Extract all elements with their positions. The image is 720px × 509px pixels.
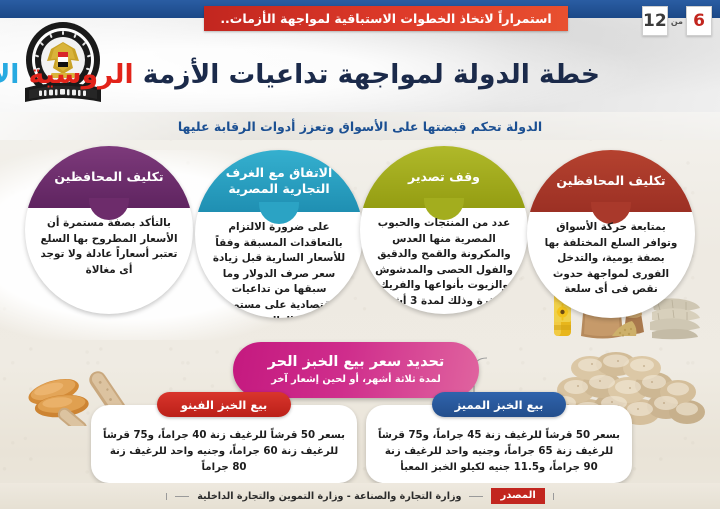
card-agreement-chambers-of-commerce: الاتفاق مع الغرف التجارية المصرية على ضر… bbox=[195, 150, 363, 318]
banner-line1: تحديد سعر بيع الخبز الحر bbox=[268, 355, 445, 371]
source-text: وزارة التجارة والصناعة - وزارة التموين و… bbox=[197, 491, 461, 502]
page-title: خطة الدولة لمواجهة تداعيات الأزمة الروسي… bbox=[10, 62, 600, 89]
card-tasking-governors-prices: تكليف المحافظين بالتأكد بصفة مستمرة أن ا… bbox=[25, 146, 193, 314]
page-counter-of: من bbox=[671, 17, 683, 26]
page-title-part3: الأوكرانية bbox=[0, 59, 29, 90]
page-counter-current: 6 bbox=[686, 6, 712, 36]
subtitle-band: الدولة تحكم قبضتها على الأسواق وتعزز أدو… bbox=[0, 112, 720, 140]
infographic-canvas: استمراراً لاتخاذ الخطوات الاستباقية لموا… bbox=[0, 0, 720, 509]
fino-bread-text: بسعر 50 قرشاً للرغيف زنة 40 جراماً، و75 … bbox=[91, 425, 357, 479]
page-counter: 6 من 12 bbox=[642, 6, 712, 36]
footer-tick-right bbox=[553, 493, 554, 500]
card-4-body: بمتابعة حركة الأسواق وتوافر السلع المختل… bbox=[527, 216, 695, 312]
card-tasking-governors-supply: تكليف المحافظين بمتابعة حركة الأسواق وتو… bbox=[527, 150, 695, 318]
source-label: المصدر bbox=[491, 488, 544, 504]
premium-bread-pill: بيع الخبز المميز bbox=[432, 392, 566, 417]
footer-tick-left bbox=[166, 493, 167, 500]
free-bread-price-banner: تحديد سعر بيع الخبز الحر لمدة ثلاثة أشهر… bbox=[233, 342, 479, 398]
card-2-body: على ضرورة الالتزام بالتعاقدات المسبقة وف… bbox=[195, 216, 363, 312]
premium-bread-text: بسعر 50 قرشاً للرغيف زنة 45 جراماً، و75 … bbox=[366, 425, 632, 479]
footer-dash bbox=[469, 496, 483, 497]
headline-ribbon: استمراراً لاتخاذ الخطوات الاستباقية لموا… bbox=[204, 6, 568, 31]
headline-ribbon-text: استمراراً لاتخاذ الخطوات الاستباقية لموا… bbox=[220, 11, 551, 26]
subtitle-text: الدولة تحكم قبضتها على الأسواق وتعزز أدو… bbox=[178, 119, 542, 134]
banner-line2: لمدة ثلاثة أشهر، أو لحين إشعار آخر bbox=[271, 374, 441, 385]
fino-bread-pill: بيع الخبز الفينو bbox=[157, 392, 291, 417]
page-counter-total: 12 bbox=[642, 6, 668, 36]
card-1-body: بالتأكد بصفة مستمرة أن الأسعار المطروح ب… bbox=[25, 212, 193, 308]
card-3-body: عدد من المنتجات والحبوب المصرية منها الع… bbox=[360, 212, 528, 308]
page-title-part1: خطة الدولة لمواجهة تداعيات الأزمة bbox=[134, 59, 600, 90]
footer-dash-left bbox=[175, 496, 189, 497]
footer-source-bar: المصدر وزارة التجارة والصناعة - وزارة ال… bbox=[0, 483, 720, 509]
page-title-part2: الروسية bbox=[29, 59, 134, 90]
fino-bread-pricing-box: بيع الخبز الفينو بسعر 50 قرشاً للرغيف زن… bbox=[91, 405, 357, 483]
card-export-ban: وقف تصدير عدد من المنتجات والحبوب المصري… bbox=[360, 146, 528, 314]
premium-bread-pricing-box: بيع الخبز المميز بسعر 50 قرشاً للرغيف زن… bbox=[366, 405, 632, 483]
